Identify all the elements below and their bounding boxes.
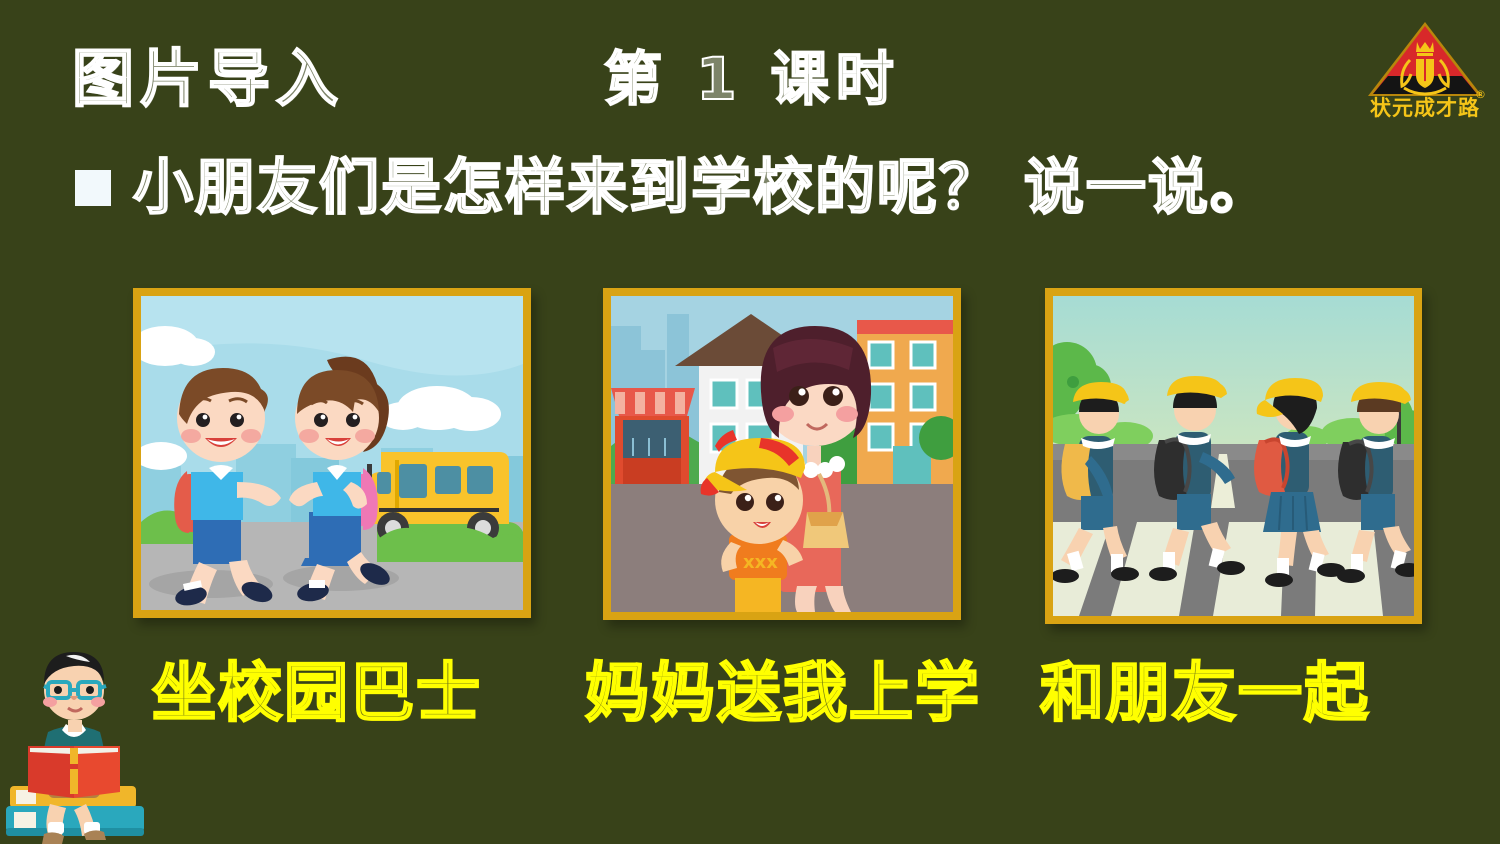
question-row: 小朋友们是怎样来到学校的呢？ 说一说。 bbox=[75, 158, 1272, 218]
picture-crosswalk[interactable] bbox=[1045, 288, 1422, 624]
caption-mother-and-child: 妈妈送我上学 bbox=[585, 662, 981, 726]
picture-school-bus[interactable] bbox=[133, 288, 531, 618]
caption-crosswalk: 和朋友一起 bbox=[1040, 662, 1370, 726]
lesson-label: 第 1 课时 bbox=[604, 50, 901, 108]
page-title: 图片导入 bbox=[72, 48, 344, 110]
logo-registered-mark: ® bbox=[1475, 88, 1486, 101]
picture-crosswalk-image bbox=[1053, 296, 1414, 616]
logo-brand-text: 状元成才路 bbox=[1360, 92, 1490, 122]
picture-school-bus-image bbox=[141, 296, 523, 610]
slide-canvas: 状元成才路 ® 图片导入 第 1 课时 小朋友们是怎样来到学校的呢？ 说一说。 bbox=[0, 0, 1500, 844]
svg-text:xxx: xxx bbox=[743, 552, 778, 573]
square-bullet-icon bbox=[75, 170, 111, 206]
picture-mother-and-child-image: xxx bbox=[611, 296, 953, 612]
zhuangyuanchengcailu-logo: 状元成才路 ® bbox=[1360, 4, 1490, 134]
question-text: 小朋友们是怎样来到学校的呢？ 说一说。 bbox=[133, 158, 1272, 218]
boy-reading-book-mascot bbox=[6, 636, 156, 844]
caption-school-bus: 坐校园巴士 bbox=[152, 662, 482, 726]
picture-mother-and-child[interactable]: xxx bbox=[603, 288, 961, 620]
